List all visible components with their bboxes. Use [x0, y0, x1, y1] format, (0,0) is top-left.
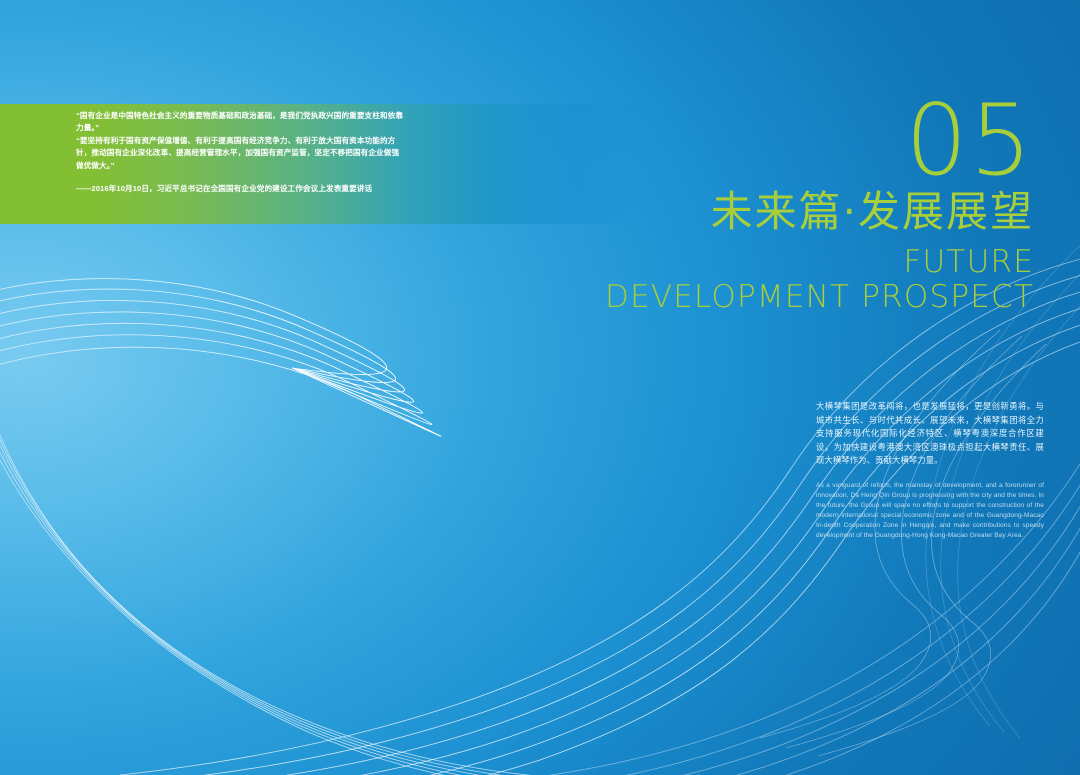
chapter-title-english-line1: FUTURE — [514, 246, 1034, 279]
body-copy-block: 大横琴集团是改革闯将，也是发展猛将，更是创新勇将。与城市共生长、与时代共成长。展… — [816, 400, 1044, 540]
wave-group-filaments — [760, 330, 1046, 756]
body-copy-english: As a vanguard of reform, the mainstay of… — [816, 468, 1044, 540]
body-copy-chinese: 大横琴集团是改革闯将，也是发展猛将，更是创新勇将。与城市共生长、与时代共成长。展… — [816, 400, 1044, 468]
page-canvas: “国有企业是中国特色社会主义的重要物质基础和政治基础，是我们党执政兴国的重要支柱… — [0, 0, 1080, 775]
chapter-heading-block: 05 未来篇·发展展望 FUTURE DEVELOPMENT PROSPECT — [514, 96, 1034, 315]
chapter-title-chinese: 未来篇·发展展望 — [514, 188, 1034, 236]
quote-paragraph-2: “要坚持有利于国有资产保值增值、有利于提高国有经济竞争力、有利于放大国有资本功能… — [76, 135, 406, 172]
chapter-title-english-line2: DEVELOPMENT PROSPECT — [514, 280, 1034, 315]
wave-group-upper — [0, 279, 441, 437]
quote-text-block: “国有企业是中国特色社会主义的重要物质基础和政治基础，是我们党执政兴国的重要支柱… — [76, 110, 406, 195]
quote-paragraph-1: “国有企业是中国特色社会主义的重要物质基础和政治基础，是我们党执政兴国的重要支柱… — [76, 110, 406, 135]
wave-group-left-sweep — [0, 300, 748, 775]
chapter-number: 05 — [514, 96, 1034, 186]
quote-attribution: ——2016年10月10日，习近平总书记在全国国有企业党的建设工作会议上发表重要… — [76, 172, 406, 195]
